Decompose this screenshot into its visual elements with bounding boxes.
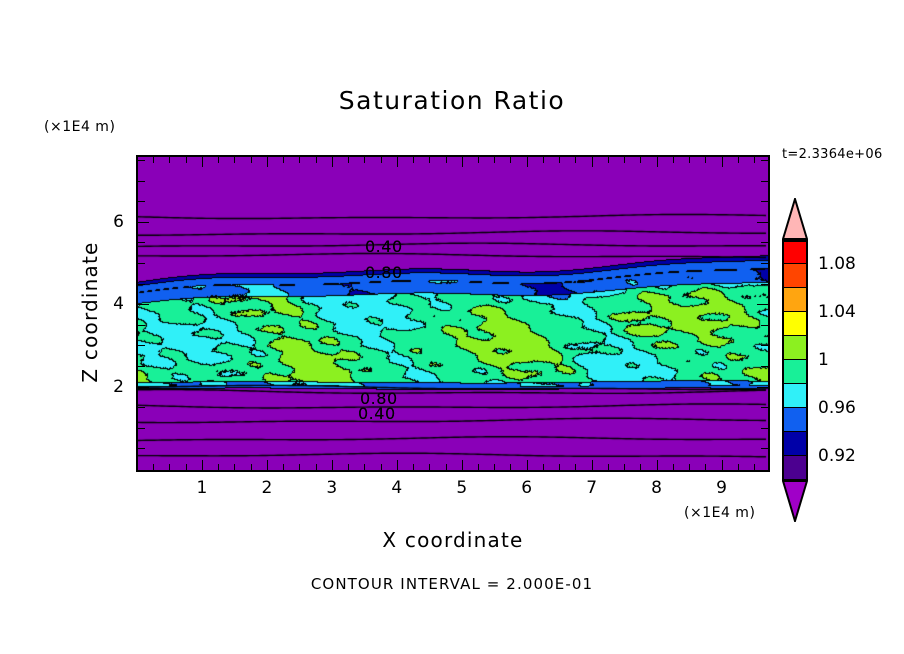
x-tick-minor-top: [494, 157, 495, 163]
y-tick-minor-right: [761, 242, 768, 243]
colorbar-band: [782, 240, 808, 264]
x-tick-minor-top: [283, 157, 284, 163]
x-tick-minor: [218, 464, 219, 470]
x-tick-minor: [673, 464, 674, 470]
x-tick-minor: [559, 464, 560, 470]
x-tick-label: 9: [702, 478, 742, 498]
x-tick-major-top: [397, 157, 398, 167]
y-tick-minor-right: [761, 448, 768, 449]
x-tick-minor-top: [640, 157, 641, 163]
x-tick-minor: [381, 464, 382, 470]
x-tick-minor-top: [413, 157, 414, 163]
y-tick-major: [138, 304, 149, 305]
x-tick-major: [332, 460, 333, 470]
x-tick-minor-top: [559, 157, 560, 163]
x-tick-minor-top: [673, 157, 674, 163]
y-tick-minor: [138, 448, 145, 449]
x-tick-major-top: [202, 157, 203, 167]
x-tick-minor-top: [543, 157, 544, 163]
colorbar-tick-label: 0.92: [818, 446, 856, 466]
x-axis-unit-label: (×1E4 m): [684, 505, 755, 521]
x-tick-minor: [575, 464, 576, 470]
page-title: Saturation Ratio: [0, 86, 904, 115]
x-tick-label: 1: [182, 478, 222, 498]
x-tick-major: [527, 460, 528, 470]
x-tick-minor-top: [738, 157, 739, 163]
x-tick-minor: [413, 464, 414, 470]
x-tick-minor: [494, 464, 495, 470]
x-tick-major: [267, 460, 268, 470]
x-tick-label: 6: [507, 478, 547, 498]
x-tick-major: [462, 460, 463, 470]
x-tick-label: 8: [637, 478, 677, 498]
x-tick-minor-top: [754, 157, 755, 163]
x-tick-minor-top: [364, 157, 365, 163]
x-tick-minor: [738, 464, 739, 470]
x-tick-minor: [689, 464, 690, 470]
x-tick-major: [657, 460, 658, 470]
x-tick-minor-top: [186, 157, 187, 163]
x-tick-minor-top: [510, 157, 511, 163]
x-tick-minor-top: [624, 157, 625, 163]
contour-value-label: 0.40: [358, 404, 396, 423]
y-axis-unit-label: (×1E4 m): [44, 119, 115, 135]
x-tick-minor-top: [299, 157, 300, 163]
y-tick-major: [138, 222, 149, 223]
y-tick-minor-right: [761, 428, 768, 429]
colorbar-tick-label: 1: [818, 350, 829, 370]
x-tick-major-top: [592, 157, 593, 167]
y-tick-major-right: [757, 304, 768, 305]
x-tick-major: [592, 460, 593, 470]
x-tick-minor-top: [689, 157, 690, 163]
x-tick-minor-top: [478, 157, 479, 163]
x-tick-minor: [754, 464, 755, 470]
x-tick-minor-top: [169, 157, 170, 163]
x-tick-label: 4: [377, 478, 417, 498]
x-tick-minor: [705, 464, 706, 470]
colorbar-band: [782, 360, 808, 384]
x-tick-minor: [429, 464, 430, 470]
colorbar-bottom-arrow: [782, 480, 808, 522]
x-tick-major-top: [267, 157, 268, 167]
x-tick-minor-top: [316, 157, 317, 163]
y-tick-minor: [138, 201, 145, 202]
y-tick-minor-right: [761, 263, 768, 264]
colorbar-band: [782, 408, 808, 432]
x-tick-label: 5: [442, 478, 482, 498]
colorbar-band: [782, 384, 808, 408]
y-tick-major-right: [757, 222, 768, 223]
x-tick-minor-top: [381, 157, 382, 163]
colorbar-band: [782, 456, 808, 480]
x-tick-minor: [186, 464, 187, 470]
contour-value-label: 0.80: [365, 263, 403, 282]
x-tick-major: [722, 460, 723, 470]
x-tick-minor: [446, 464, 447, 470]
contour-plot-area: [136, 155, 770, 472]
colorbar-band: [782, 336, 808, 360]
y-tick-major-right: [757, 387, 768, 388]
x-tick-label: 7: [572, 478, 612, 498]
y-tick-minor: [138, 160, 145, 161]
colorbar-band: [782, 288, 808, 312]
x-tick-minor-top: [218, 157, 219, 163]
x-tick-minor: [543, 464, 544, 470]
contour-value-label: 0.40: [365, 237, 403, 256]
colorbar-tick-label: 1.04: [818, 302, 856, 322]
colorbar-band: [782, 432, 808, 456]
x-axis-label: X coordinate: [136, 528, 770, 552]
x-tick-minor: [510, 464, 511, 470]
colorbar-top-arrow: [782, 198, 808, 240]
x-tick-major: [202, 460, 203, 470]
x-tick-minor: [478, 464, 479, 470]
x-tick-major-top: [722, 157, 723, 167]
y-tick-minor-right: [761, 345, 768, 346]
x-tick-major-top: [332, 157, 333, 167]
x-tick-minor-top: [608, 157, 609, 163]
y-tick-minor-right: [761, 181, 768, 182]
y-axis-label: Z coordinate: [78, 212, 102, 412]
y-tick-minor: [138, 366, 145, 367]
x-tick-minor: [608, 464, 609, 470]
x-tick-minor-top: [429, 157, 430, 163]
colorbar-tick-label: 0.96: [818, 398, 856, 418]
y-tick-minor: [138, 284, 145, 285]
time-annotation: t=2.3364e+06: [782, 147, 883, 162]
colorbar: 1.081.0410.960.92: [778, 198, 818, 520]
x-tick-minor: [624, 464, 625, 470]
y-tick-minor: [138, 345, 145, 346]
x-tick-minor-top: [348, 157, 349, 163]
x-tick-minor-top: [234, 157, 235, 163]
contour-interval-note: CONTOUR INTERVAL = 2.000E-01: [0, 575, 904, 593]
x-tick-minor-top: [153, 157, 154, 163]
x-tick-minor: [640, 464, 641, 470]
x-tick-label: 2: [247, 478, 287, 498]
y-tick-minor-right: [761, 160, 768, 161]
x-tick-major-top: [462, 157, 463, 167]
y-tick-minor: [138, 407, 145, 408]
contour-field-canvas: [138, 157, 768, 470]
x-tick-minor: [348, 464, 349, 470]
x-tick-major: [397, 460, 398, 470]
y-tick-minor: [138, 428, 145, 429]
x-tick-minor: [169, 464, 170, 470]
x-tick-minor: [251, 464, 252, 470]
x-tick-minor: [283, 464, 284, 470]
y-tick-minor: [138, 263, 145, 264]
y-tick-minor-right: [761, 366, 768, 367]
x-tick-major-top: [657, 157, 658, 167]
y-tick-minor: [138, 325, 145, 326]
x-tick-minor: [316, 464, 317, 470]
y-tick-minor: [138, 181, 145, 182]
x-tick-minor-top: [251, 157, 252, 163]
colorbar-band: [782, 264, 808, 288]
y-tick-minor: [138, 242, 145, 243]
x-tick-major-top: [527, 157, 528, 167]
x-tick-minor: [299, 464, 300, 470]
colorbar-tick-label: 1.08: [818, 254, 856, 274]
x-tick-minor: [234, 464, 235, 470]
y-tick-minor-right: [761, 201, 768, 202]
x-tick-minor-top: [575, 157, 576, 163]
y-tick-minor-right: [761, 284, 768, 285]
x-tick-minor-top: [446, 157, 447, 163]
colorbar-band: [782, 312, 808, 336]
x-tick-minor: [153, 464, 154, 470]
y-tick-major: [138, 387, 149, 388]
y-tick-minor-right: [761, 407, 768, 408]
y-tick-minor-right: [761, 325, 768, 326]
x-tick-label: 3: [312, 478, 352, 498]
x-tick-minor-top: [705, 157, 706, 163]
x-tick-minor: [364, 464, 365, 470]
